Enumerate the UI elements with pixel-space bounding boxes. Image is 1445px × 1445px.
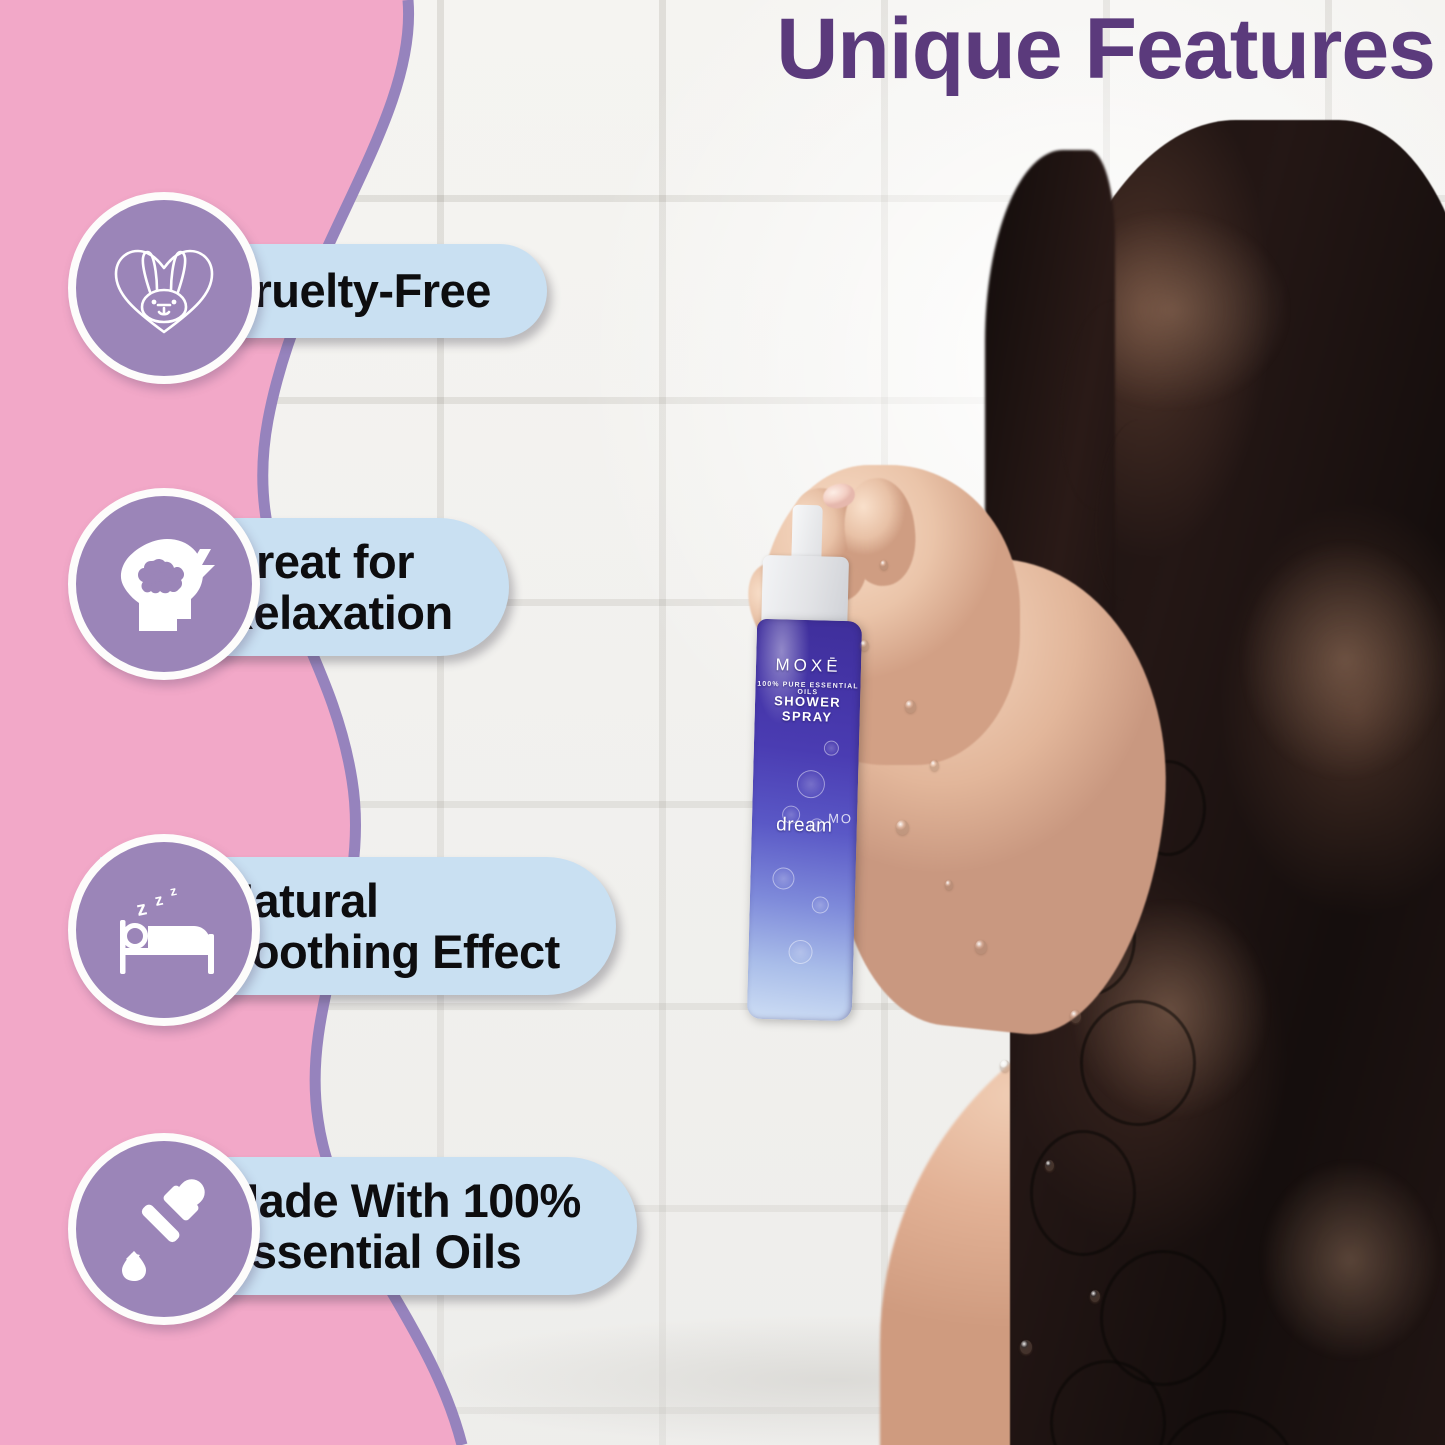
feature-row-cruelty-free: Cruelty-Free — [100, 244, 547, 338]
feature-badge-relaxation — [68, 488, 260, 680]
feature-badge-cruelty-free — [68, 192, 260, 384]
feature-row-essential-oils: Made With 100% Essential Oils — [100, 1157, 637, 1295]
feature-label: Cruelty-Free — [220, 265, 491, 316]
feature-row-relaxation: Great for Relaxation — [100, 518, 509, 656]
head-brain-lightning-icon — [103, 523, 225, 645]
product-bottle: MOXĒ 100% PURE ESSENTIAL OILS SHOWER SPR… — [747, 619, 862, 1022]
dropper-droplet-icon — [102, 1167, 226, 1291]
product-feature-graphic: MOXĒ 100% PURE ESSENTIAL OILS SHOWER SPR… — [0, 0, 1445, 1445]
svg-text:z: z — [169, 883, 179, 899]
feature-label: Natural Soothing Effect — [220, 875, 560, 977]
page-title: Unique Features — [776, 6, 1435, 92]
bunny-in-heart-icon — [104, 228, 224, 348]
svg-text:z: z — [134, 897, 148, 921]
feature-row-soothing: Natural Soothing Effect z z z — [100, 857, 616, 995]
feature-label: Made With 100% Essential Oils — [220, 1175, 581, 1277]
bottle-brand: MOXĒ — [756, 655, 861, 678]
bottle-side-text: MO — [828, 811, 853, 827]
feature-badge-soothing: z z z — [68, 834, 260, 1026]
feature-badge-essential-oils — [68, 1133, 260, 1325]
svg-text:z: z — [153, 892, 164, 910]
bottle-type: SHOWER SPRAY — [755, 693, 861, 726]
bed-sleep-zzz-icon: z z z — [102, 868, 226, 992]
